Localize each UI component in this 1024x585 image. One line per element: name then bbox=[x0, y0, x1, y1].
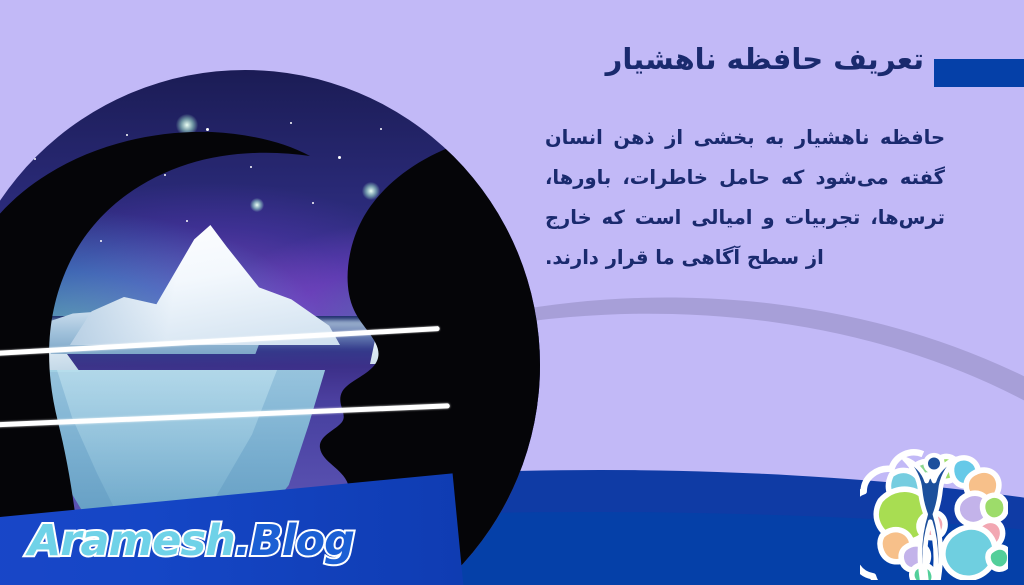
title-accent-bar bbox=[934, 59, 1024, 87]
body-paragraph: حافظه ناهشیار به بخشی از ذهن انسان گفته … bbox=[545, 118, 945, 278]
slide-canvas: تعریف حافظه ناهشیار حافظه ناهشیار به بخش… bbox=[0, 0, 1024, 585]
page-title: تعریف حافظه ناهشیار bbox=[606, 42, 924, 76]
brand-name-suffix: .Blog bbox=[235, 516, 354, 566]
brand-wordmark: Aramesh.Blog bbox=[28, 516, 354, 566]
brand-mark bbox=[860, 432, 1008, 580]
brain-person-logo-icon bbox=[860, 432, 1008, 580]
brand-name-primary: Aramesh bbox=[28, 516, 235, 566]
